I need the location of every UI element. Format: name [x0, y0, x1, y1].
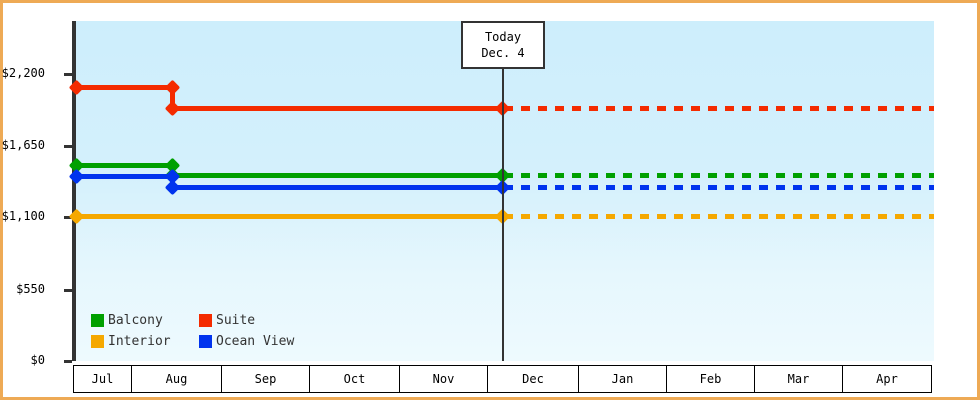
- today-date: Dec. 4: [481, 45, 524, 61]
- x-axis-month-aug[interactable]: Aug: [132, 366, 222, 392]
- x-axis-month-dec[interactable]: Dec: [488, 366, 579, 392]
- legend-label-balcony: Balcony: [108, 313, 163, 328]
- y-axis-label-550: $550: [16, 283, 45, 295]
- legend-label-interior: Interior: [108, 334, 171, 349]
- x-axis-month-jul[interactable]: Jul: [74, 366, 132, 392]
- legend-item-suite[interactable]: Suite: [199, 313, 294, 328]
- chart-frame: $2,200 $1,650 $1,100 $550 $0: [0, 0, 980, 400]
- y-axis-label-0: $0: [31, 354, 45, 366]
- y-axis-label-2200: $2,200: [2, 67, 45, 79]
- x-axis-month-jan[interactable]: Jan: [579, 366, 667, 392]
- chart-legend: Balcony Suite Interior Ocean View: [91, 313, 294, 349]
- series-interior-segment-1: [75, 214, 504, 219]
- series-ocean-view-segment-2: [170, 185, 504, 190]
- legend-item-balcony[interactable]: Balcony: [91, 313, 191, 328]
- legend-item-interior[interactable]: Interior: [91, 334, 191, 349]
- legend-swatch-ocean-view-icon: [199, 335, 212, 348]
- legend-swatch-balcony-icon: [91, 314, 104, 327]
- series-suite-forecast-dotted: [504, 106, 934, 111]
- x-axis-month-sep[interactable]: Sep: [222, 366, 310, 392]
- price-history-chart: $2,200 $1,650 $1,100 $550 $0: [3, 3, 980, 403]
- x-axis-month-feb[interactable]: Feb: [667, 366, 755, 392]
- series-interior-forecast-dotted: [504, 214, 934, 219]
- y-tick-550: [64, 289, 72, 292]
- series-suite-segment-1: [75, 85, 174, 90]
- y-tick-1650: [64, 145, 72, 148]
- y-axis-label-1100: $1,100: [2, 210, 45, 222]
- x-axis-month-apr[interactable]: Apr: [843, 366, 931, 392]
- series-balcony-forecast-dotted: [504, 173, 934, 178]
- x-axis-month-nov[interactable]: Nov: [400, 366, 488, 392]
- legend-swatch-suite-icon: [199, 314, 212, 327]
- today-callout-box: Today Dec. 4: [461, 21, 545, 69]
- y-tick-2200: [64, 73, 72, 76]
- x-axis-month-table: Jul Aug Sep Oct Nov Dec Jan Feb Mar Apr: [73, 365, 932, 393]
- today-label: Today: [485, 29, 521, 45]
- y-axis-label-1650: $1,650: [2, 139, 45, 151]
- legend-item-ocean-view[interactable]: Ocean View: [199, 334, 294, 349]
- y-axis-line: [72, 21, 76, 361]
- legend-label-ocean-view: Ocean View: [216, 334, 294, 349]
- legend-label-suite: Suite: [216, 313, 255, 328]
- legend-swatch-interior-icon: [91, 335, 104, 348]
- series-ocean-view-segment-1: [75, 174, 174, 179]
- x-axis-month-oct[interactable]: Oct: [310, 366, 400, 392]
- x-axis-month-mar[interactable]: Mar: [755, 366, 843, 392]
- y-tick-0: [64, 360, 72, 363]
- today-vertical-line: [502, 21, 504, 361]
- series-balcony-segment-1: [75, 163, 174, 168]
- series-balcony-segment-2: [170, 173, 504, 178]
- series-ocean-view-forecast-dotted: [504, 185, 934, 190]
- series-suite-segment-2: [170, 106, 504, 111]
